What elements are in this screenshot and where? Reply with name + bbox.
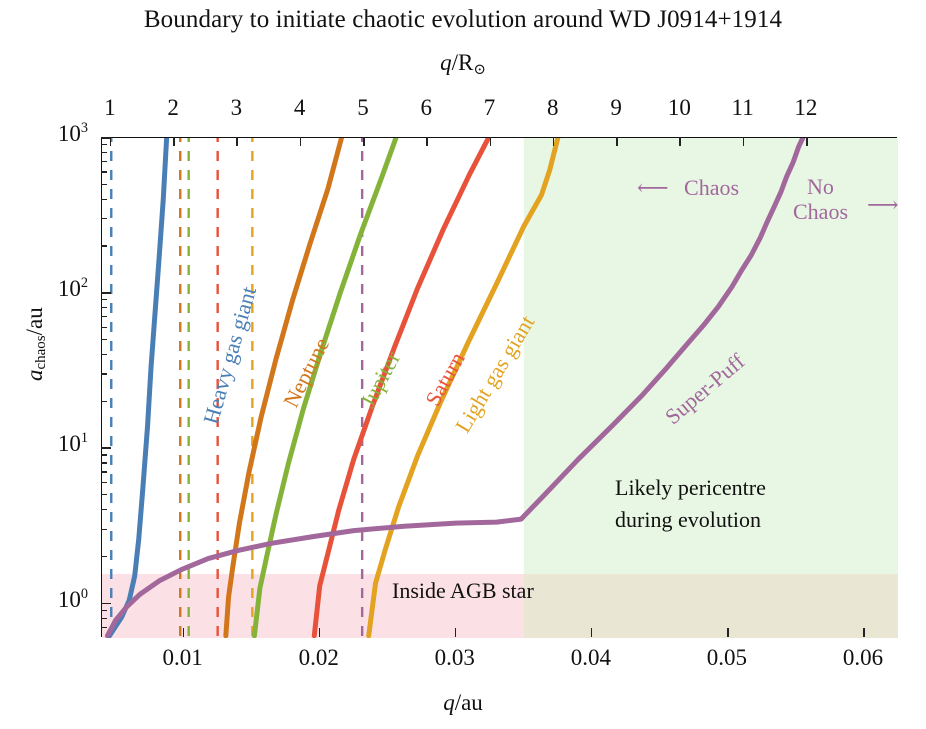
axis-tick: [236, 137, 238, 146]
top-tick-label-8: 8: [533, 95, 573, 121]
y-tick-label-1e3: 103: [8, 120, 88, 147]
top-tick-label-1: 1: [90, 95, 130, 121]
axis-tick: [101, 299, 107, 300]
bottom-tick-label-0.03: 0.03: [420, 645, 490, 671]
axis-tick: [101, 529, 107, 530]
axis-tick: [101, 454, 107, 455]
top-tick-label-9: 9: [596, 95, 636, 121]
top-tick-label-5: 5: [343, 95, 383, 121]
axis-tick: [553, 137, 555, 146]
axis-tick: [101, 171, 107, 172]
y-tick-label-1e0: 100: [8, 586, 88, 613]
axis-tick: [101, 327, 107, 328]
x-axis-label-den: /au: [455, 690, 483, 715]
axis-tick: [363, 137, 365, 146]
y-tick-label-1e1: 101: [8, 430, 88, 457]
x-axis-label: q/au: [0, 690, 926, 716]
axis-tick: [101, 462, 107, 463]
axis-tick: [101, 509, 107, 510]
top-axis-label-sub: ⊙: [473, 62, 486, 78]
axis-tick: [455, 628, 457, 637]
axis-tick: [679, 137, 681, 146]
top-tick-label-10: 10: [659, 95, 699, 121]
figure-title: Boundary to initiate chaotic evolution a…: [0, 6, 926, 34]
axis-tick: [173, 137, 175, 146]
axis-tick: [591, 628, 593, 637]
top-tick-label-4: 4: [280, 95, 320, 121]
axis-tick: [101, 218, 107, 219]
top-tick-label-2: 2: [153, 95, 193, 121]
y-tick-label-1e2: 102: [8, 275, 88, 302]
y-axis-label-a: a: [22, 370, 47, 382]
axis-tick: [426, 137, 428, 146]
chaos-text: Chaos: [684, 175, 739, 200]
axis-tick: [101, 494, 107, 495]
axis-tick: [101, 482, 107, 483]
axis-tick: [863, 628, 865, 637]
axis-tick: [319, 628, 321, 637]
top-tick-label-11: 11: [723, 95, 763, 121]
bottom-tick-label-0.02: 0.02: [284, 645, 354, 671]
axis-tick: [101, 618, 107, 619]
likely-line1: Likely pericentre: [615, 472, 766, 504]
axis-tick: [101, 152, 107, 153]
axis-tick: [806, 137, 808, 146]
nochaos-arrow-icon: ⟶: [867, 192, 899, 218]
top-tick-label-3: 3: [216, 95, 256, 121]
top-axis-label-q: q: [440, 50, 452, 75]
bottom-tick-label-0.06: 0.06: [828, 645, 898, 671]
region-overlap: [524, 574, 898, 638]
axis-tick: [490, 137, 492, 146]
axis-tick: [101, 447, 111, 449]
axis-tick: [101, 137, 111, 139]
axis-tick: [300, 137, 302, 146]
axis-tick: [101, 556, 107, 557]
figure-root: Boundary to initiate chaotic evolution a…: [0, 0, 926, 729]
annotation-likely-pericentre: Likely pericentre during evolution: [615, 472, 766, 536]
y-axis-label-sub: chaos: [33, 335, 49, 369]
axis-tick: [101, 144, 107, 145]
bottom-tick-label-0.05: 0.05: [692, 645, 762, 671]
bottom-tick-label-0.04: 0.04: [556, 645, 626, 671]
axis-tick: [101, 627, 107, 628]
axis-tick: [101, 339, 107, 340]
axis-tick: [101, 184, 107, 185]
top-axis-label: q/R⊙: [0, 50, 926, 79]
axis-tick: [101, 316, 107, 317]
axis-tick: [101, 603, 111, 605]
axis-tick: [101, 245, 107, 246]
annotation-chaos: ⟵ Chaos: [637, 175, 739, 201]
top-tick-label-6: 6: [406, 95, 446, 121]
axis-tick: [101, 471, 107, 472]
axis-tick: [101, 401, 107, 402]
axis-tick: [183, 628, 185, 637]
x-axis-label-q: q: [443, 690, 455, 715]
top-tick-label-7: 7: [470, 95, 510, 121]
axis-tick: [101, 373, 107, 374]
axis-tick: [101, 610, 107, 611]
axis-tick: [101, 292, 111, 294]
curve-saturn: [314, 138, 488, 636]
nochaos-line1: No: [793, 175, 848, 200]
axis-tick: [101, 199, 107, 200]
likely-line2: during evolution: [615, 504, 766, 536]
annotation-inside-agb-star: Inside AGB star: [392, 578, 534, 604]
y-axis-label-den: /au: [22, 307, 47, 335]
bottom-tick-label-0.01: 0.01: [148, 645, 218, 671]
axis-tick: [101, 161, 107, 162]
chaos-arrow-icon: ⟵: [637, 175, 669, 200]
top-tick-label-12: 12: [786, 95, 826, 121]
annotation-no-chaos: No Chaos: [793, 175, 848, 224]
axis-tick: [101, 354, 107, 355]
axis-tick: [727, 628, 729, 637]
top-axis-label-den: /R: [452, 50, 474, 75]
curve-heavy-gas-giant: [109, 138, 166, 636]
axis-tick: [101, 307, 107, 308]
axis-tick: [743, 137, 745, 146]
axis-tick: [616, 137, 618, 146]
nochaos-line2: Chaos: [793, 200, 848, 225]
